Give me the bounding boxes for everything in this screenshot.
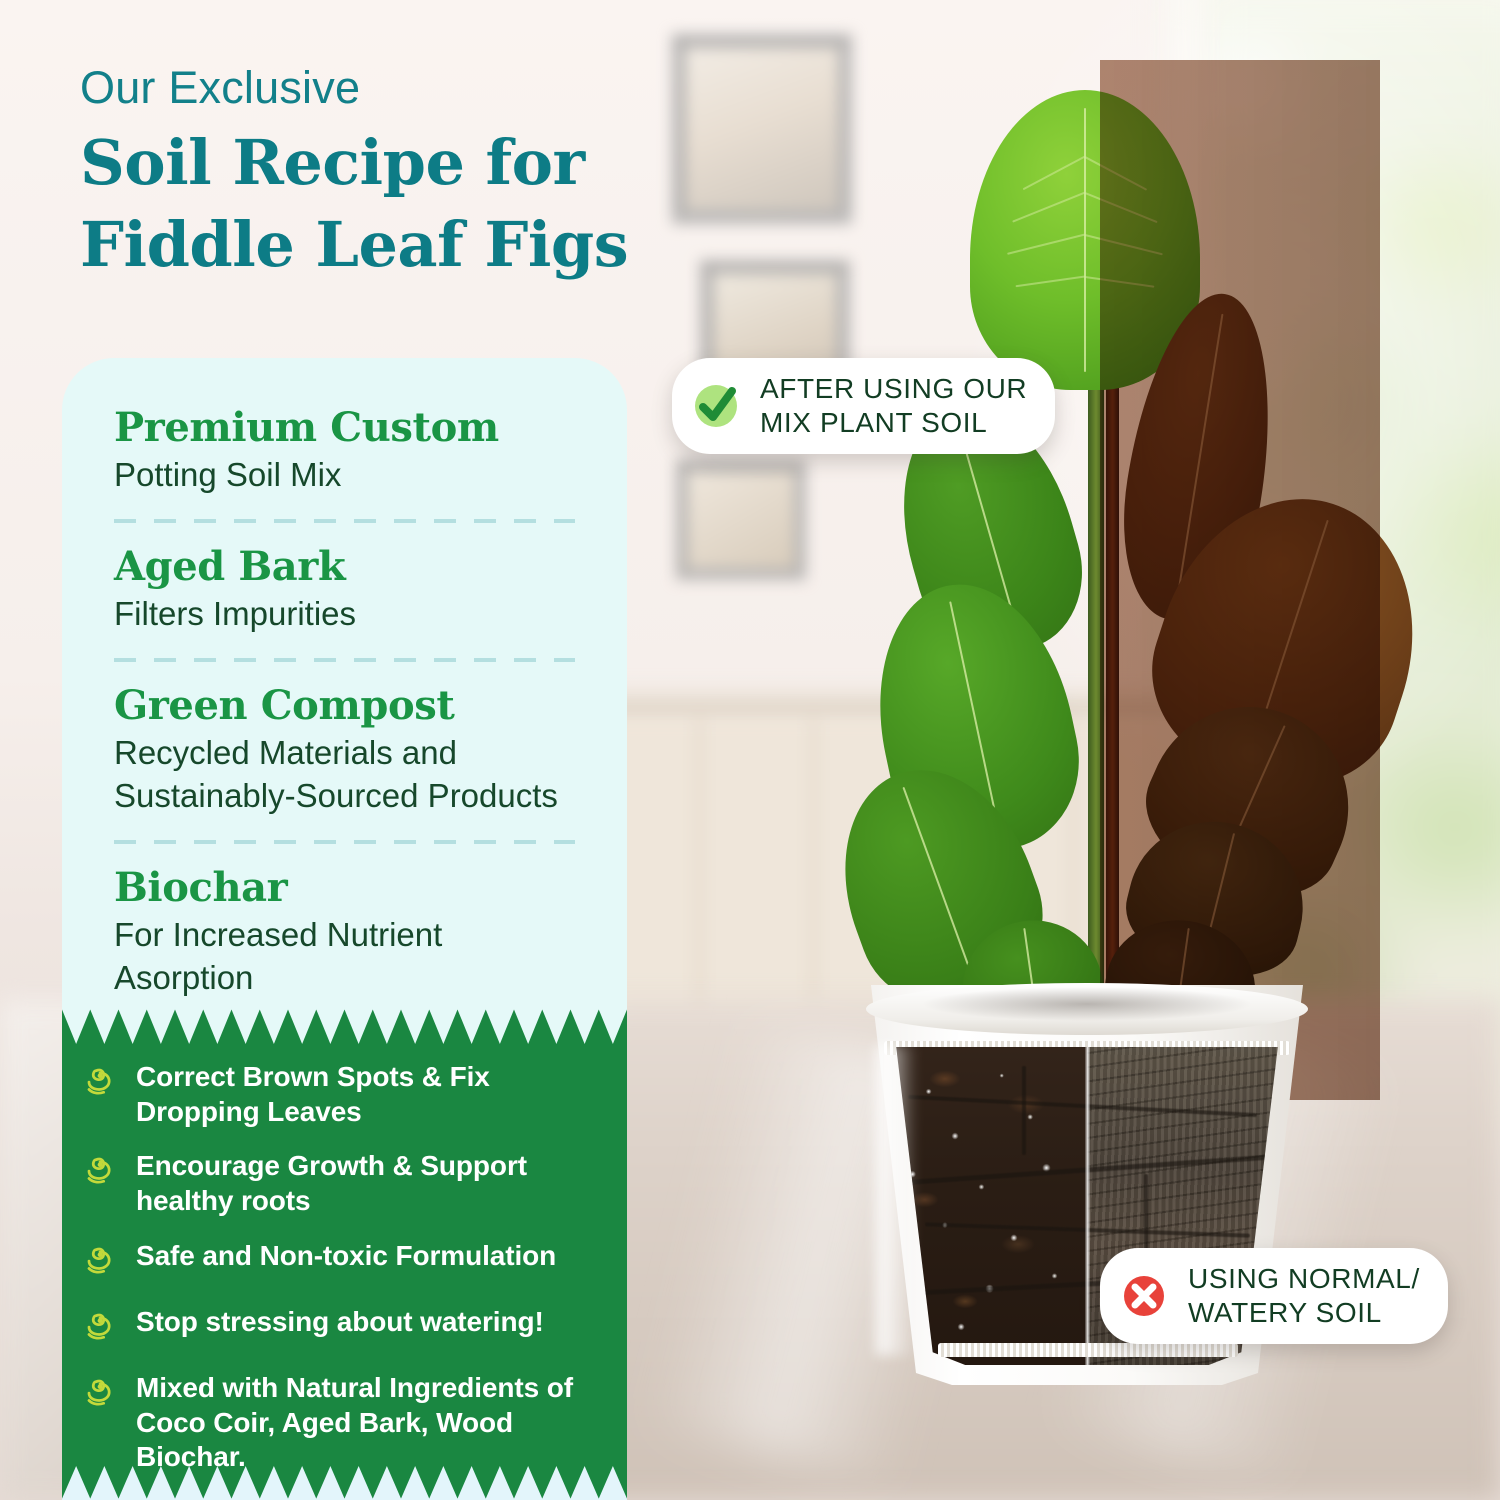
dashed-divider [114,658,575,662]
leaf-vein [1012,192,1085,223]
leaf-sprout-icon [78,1241,122,1285]
benefit-text: Stop stressing about watering! [136,1305,544,1340]
ingredient-title: Biochar [114,864,575,911]
page-title-line-2: Fiddle Leaf Figs [80,204,780,286]
benefit-item: Correct Brown Spots & Fix Dropping Leave… [78,1060,605,1129]
headline-kicker: Our Exclusive [80,62,780,114]
leaf-vein [1085,192,1158,223]
benefit-text: Mixed with Natural Ingredients of Coco C… [136,1371,605,1475]
leaf-vein [1085,234,1163,255]
benefit-item: Safe and Non-toxic Formulation [78,1239,605,1285]
leaf-vein [1085,276,1155,287]
ingredient-subtitle: Filters Impurities [114,593,575,636]
leaf-top [970,90,1200,390]
leaf-vein [902,787,975,982]
page-headline: Our Exclusive Soil Recipe for Fiddle Lea… [80,62,780,285]
ingredient-title: Green Compost [114,682,575,729]
leaf-vein [1084,108,1086,372]
ingredient-subtitle: Potting Soil Mix [114,454,575,497]
leaf-sprout-icon [78,1373,122,1417]
ingredient-item: Biochar For Increased Nutrient Asorption [62,864,627,1000]
dashed-divider [114,519,575,523]
badge-after-label: AFTER USING OUR MIX PLANT SOIL [760,372,1027,440]
badge-before-label: USING NORMAL/ WATERY SOIL [1188,1262,1420,1330]
plant-trunk-right [1106,310,1119,1060]
badge-after-using-our-mix: AFTER USING OUR MIX PLANT SOIL [672,358,1055,454]
ingredient-item: Green Compost Recycled Materials and Sus… [62,682,627,818]
benefit-text: Encourage Growth & Support healthy roots [136,1149,605,1218]
benefit-text: Safe and Non-toxic Formulation [136,1239,556,1274]
ingredient-subtitle: Recycled Materials and Sustainably-Sourc… [114,732,575,818]
badge-using-normal-soil: USING NORMAL/ WATERY SOIL [1100,1248,1448,1344]
leaf-sprout-icon [78,1062,122,1106]
dashed-divider [114,840,575,844]
ingredient-list-card: Premium Custom Potting Soil Mix Aged Bar… [62,358,627,1010]
fiddle-leaf-fig-plant [820,60,1380,1100]
green-check-icon [690,380,742,432]
benefit-item: Mixed with Natural Ingredients of Coco C… [78,1371,605,1475]
leaf-vein [1007,234,1085,255]
pot-highlight [876,1045,916,1355]
benefit-item: Encourage Growth & Support healthy roots [78,1149,605,1218]
page-title-line-1: Soil Recipe for [80,122,780,204]
red-x-icon [1118,1270,1170,1322]
benefits-list: Correct Brown Spots & Fix Dropping Leave… [62,1060,627,1495]
leaf-sprout-icon [78,1307,122,1351]
leaf-vein [1016,276,1086,287]
zigzag-edge-top [62,1008,627,1044]
ingredient-subtitle: For Increased Nutrient Asorption [114,914,575,1000]
soil-split-divider [1085,1047,1090,1365]
pot-inner-shadow [922,987,1252,1021]
benefit-text: Correct Brown Spots & Fix Dropping Leave… [136,1060,605,1129]
ingredient-item: Premium Custom Potting Soil Mix [62,404,627,497]
ingredient-title: Premium Custom [114,404,575,451]
ingredient-item: Aged Bark Filters Impurities [62,543,627,636]
pot-fabric-trim-bottom [938,1343,1238,1357]
benefit-item: Stop stressing about watering! [78,1305,605,1351]
ingredient-title: Aged Bark [114,543,575,590]
wall-picture-frame [676,460,806,580]
leaf-sprout-icon [78,1151,122,1195]
leaf-vein [1023,156,1086,190]
benefits-panel: Correct Brown Spots & Fix Dropping Leave… [62,1008,627,1500]
soil-crack [1022,1066,1026,1155]
leaf-vein [1085,156,1148,190]
